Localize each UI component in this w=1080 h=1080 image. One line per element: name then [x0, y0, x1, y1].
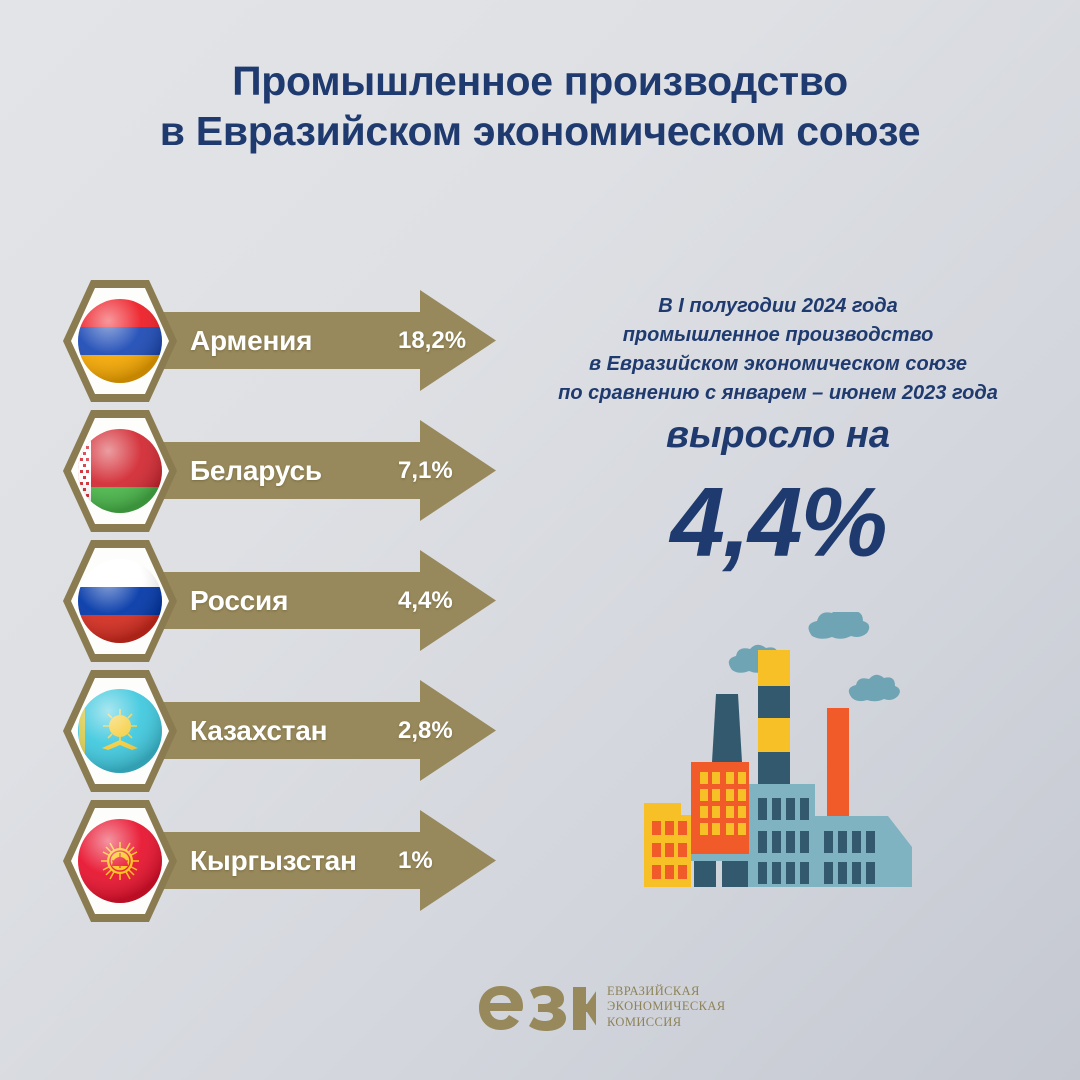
summary-grew-label: выросло на	[498, 414, 1058, 457]
eec-logo-mark	[478, 980, 596, 1034]
flag-badge-belarus	[62, 406, 178, 536]
country-value-russia: 4,4%	[398, 550, 494, 651]
country-value-belarus: 7,1%	[398, 420, 494, 521]
eec-logo-text-line-1: Евразийская	[607, 984, 726, 1000]
flag-badge-russia	[62, 536, 178, 666]
flag-badge-kyrgyzstan	[62, 796, 178, 926]
eec-logo-text-line-3: комиссия	[607, 1015, 726, 1031]
country-label-belarus: Беларусь	[190, 420, 322, 521]
page-title-line-1: Промышленное производство	[0, 56, 1080, 106]
eec-logo-text: Евразийская экономическая комиссия	[607, 984, 726, 1031]
country-value-kyrgyzstan: 1%	[398, 810, 494, 911]
flag-badge-armenia	[62, 276, 178, 406]
yellow-block-windows	[652, 821, 687, 879]
summary-headline-value: 4,4%	[498, 466, 1058, 579]
orange-tower-base-doors	[694, 861, 748, 887]
eec-logo: Евразийская экономическая комиссия	[478, 978, 726, 1036]
chimney-orange	[827, 708, 849, 818]
country-value-armenia: 18,2%	[398, 290, 494, 391]
summary-intro-line-1: В I полугодии 2024 года	[498, 292, 1058, 321]
country-value-kazakhstan: 2,8%	[398, 680, 494, 781]
flag-badge-kazakhstan	[62, 666, 178, 796]
summary-intro-line-2: промышленное производство	[498, 321, 1058, 350]
country-label-kazakhstan: Казахстан	[190, 680, 327, 781]
summary-intro-text: В I полугодии 2024 года промышленное про…	[498, 292, 1058, 408]
eec-logo-text-line-2: экономическая	[607, 999, 726, 1015]
chimney-navy	[712, 694, 742, 762]
country-label-armenia: Армения	[190, 290, 312, 391]
summary-intro-line-4: по сравнению с январем – июнем 2023 года	[498, 379, 1058, 408]
factory-illustration	[636, 612, 956, 912]
page-title: Промышленное производство в Евразийском …	[0, 56, 1080, 156]
smoke-icon	[729, 612, 900, 701]
country-label-kyrgyzstan: Кыргызстан	[190, 810, 357, 911]
summary-intro-line-3: в Евразийском экономическом союзе	[498, 350, 1058, 379]
country-label-russia: Россия	[190, 550, 288, 651]
page-title-line-2: в Евразийском экономическом союзе	[0, 106, 1080, 156]
